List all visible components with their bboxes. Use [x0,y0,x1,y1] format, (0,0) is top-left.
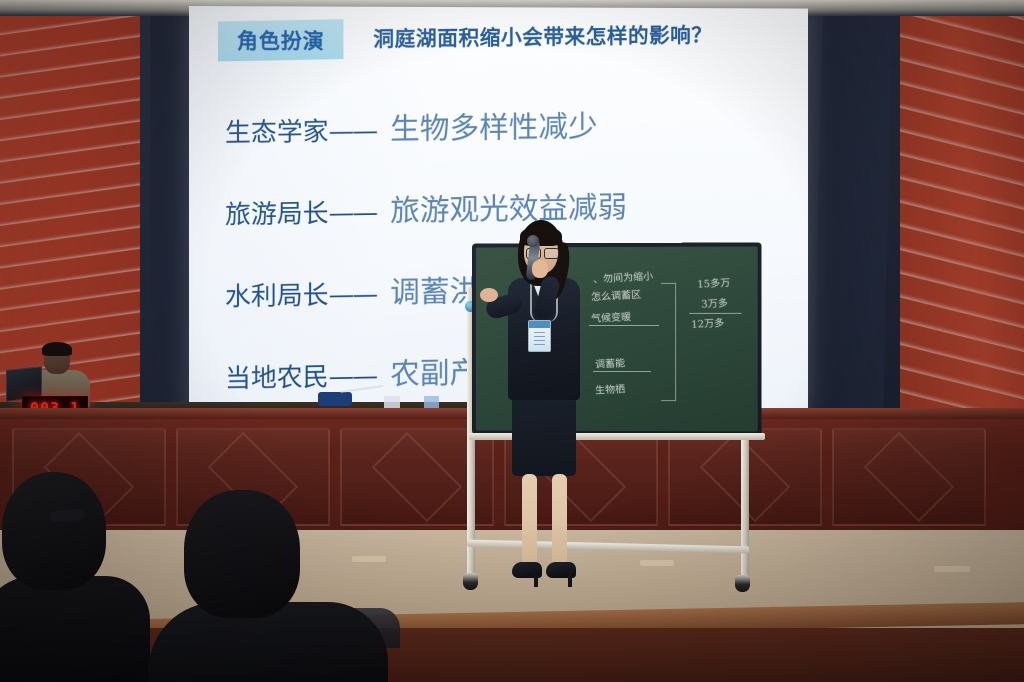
right-wood-wall [884,0,1024,430]
table-object-projector [318,392,352,406]
glasses-lens-right [544,248,559,259]
slide-line-role: 旅游局长 [225,193,329,232]
badge-text-line [534,336,545,337]
presenter-hand-right [532,260,548,278]
audience-head [184,490,300,618]
lecture-hall-photo: 角色扮演 洞庭湖面积缩小会带来怎样的影响？ 生态学家 —— 生物多样性减少 旅游… [0,0,1024,682]
badge-text-line [534,332,545,333]
chalk-number: 12万多 [691,314,725,331]
operator-hair [42,342,72,356]
audience-head [2,472,106,590]
slide-line-role: 生态学家 [225,111,329,149]
slide-line-dash: —— [329,117,377,148]
slide-section-tag-label: 角色扮演 [237,25,325,55]
slide-line-role: 水利局长 [225,275,329,314]
microphone-head [527,235,539,247]
presenter-heel-left [534,574,538,587]
backdrop-right-shadow [813,0,893,424]
presenter-leg-left [522,474,537,566]
stand-caster-left [463,573,478,590]
presenter-heel-right [568,574,572,587]
slide-line-role: 当地农民 [225,357,329,396]
presenter-hand-left [480,288,498,302]
stand-caster-right [735,575,750,592]
slide-section-tag: 角色扮演 [218,19,343,61]
slide-line-dash: —— [329,198,377,229]
floor-trim-strip [934,566,970,572]
slide-title: 洞庭湖面积缩小会带来怎样的影响？ [373,19,712,53]
slide-line: 生态学家 —— 生物多样性减少 [225,99,797,189]
slide-line-result: 生物多样性减少 [390,102,597,149]
presenter-skirt [512,394,576,476]
presenter [480,218,610,610]
presenter-leg-right [552,474,567,566]
audience-member-front-center [160,490,390,682]
name-badge [528,320,551,352]
audience-body [0,576,150,682]
panel-diamond [864,432,955,523]
presenter-bangs [520,226,562,246]
audience-member-front-left [0,472,136,682]
slide-line-dash: —— [329,280,377,311]
badge-text-line [534,340,545,341]
chalk-number: 15多万 [697,274,731,291]
chalk-number: 3万多 [701,294,728,310]
chalk-bracket [661,283,676,401]
wainscot-panel [832,428,986,526]
badge-header-band [529,321,550,328]
badge-text-line [534,344,545,345]
